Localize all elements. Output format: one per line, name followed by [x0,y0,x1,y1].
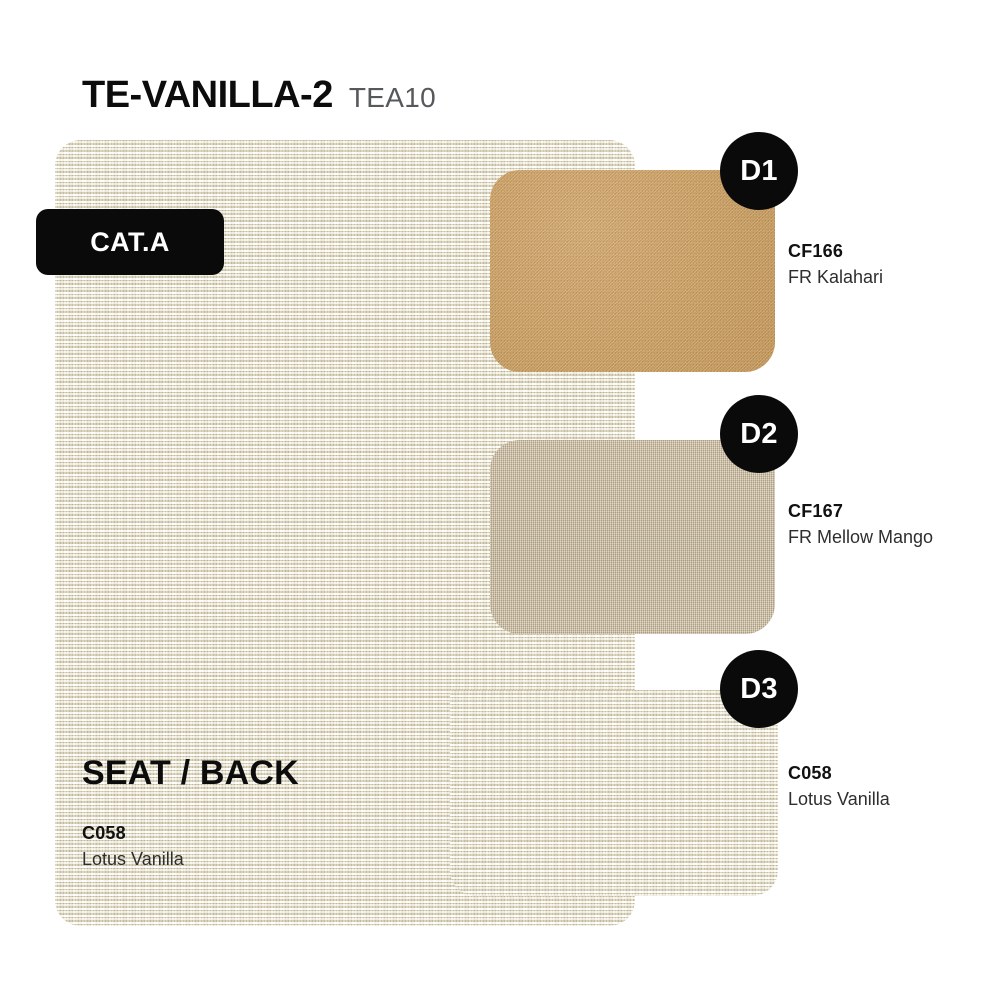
callout-d3: C058 Lotus Vanilla [788,760,890,812]
callout-d1-code: CF166 [788,238,883,264]
marker-badge-d1-label: D1 [740,155,777,188]
callout-d2-name: FR Mellow Mango [788,524,933,550]
callout-d3-name: Lotus Vanilla [788,786,890,812]
title-code: TEA10 [349,84,436,112]
marker-badge-d3[interactable]: D3 [720,650,798,728]
category-badge-label: CAT.A [90,227,170,258]
marker-badge-d2[interactable]: D2 [720,395,798,473]
seat-back-code: C058 [82,820,299,846]
marker-badge-d3-label: D3 [740,673,777,706]
seat-back-name: Lotus Vanilla [82,846,299,872]
marker-badge-d2-label: D2 [740,418,777,451]
callout-d2: CF167 FR Mellow Mango [788,498,933,550]
seat-back-block: SEAT / BACK C058 Lotus Vanilla [82,755,299,873]
callout-d1: CF166 FR Kalahari [788,238,883,290]
callout-d1-name: FR Kalahari [788,264,883,290]
swatch-d2-mellow-mango[interactable] [490,440,775,634]
material-specification-card: TE-VANILLA-2 TEA10 CAT.A D1 D2 D3 CF166 … [0,0,1000,1000]
callout-d3-code: C058 [788,760,890,786]
marker-badge-d1[interactable]: D1 [720,132,798,210]
seat-back-heading: SEAT / BACK [82,755,299,792]
category-badge[interactable]: CAT.A [36,209,224,275]
fabric-panel-d3-extension[interactable] [450,690,778,896]
callout-d2-code: CF167 [788,498,933,524]
page-title: TE-VANILLA-2 TEA10 [82,76,436,114]
swatch-d1-kalahari[interactable] [490,170,775,372]
title-main: TE-VANILLA-2 [82,76,333,114]
